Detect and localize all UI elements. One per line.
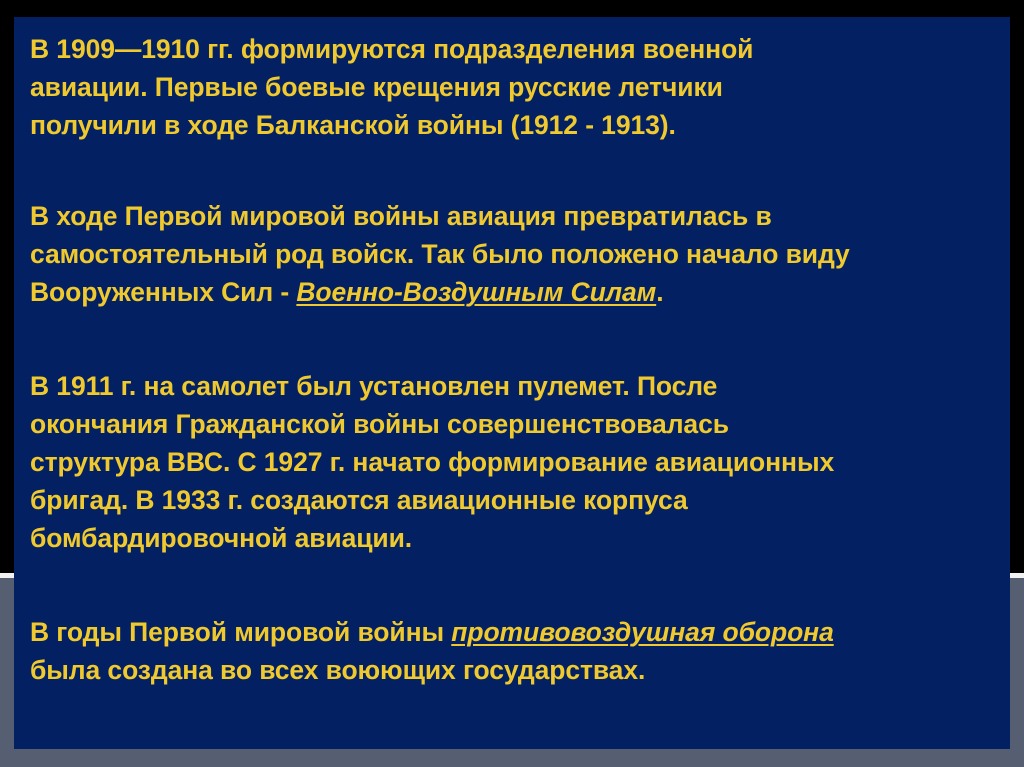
- emphasis-air-force: Военно-Воздушным Силам: [296, 277, 656, 307]
- paragraph-4-line-1-prefix: В годы Первой мировой войны: [30, 617, 451, 647]
- paragraph-1-line-3: получили в ходе Балканской войны (1912 -…: [30, 106, 1000, 144]
- paragraph-world-war-one: В ходе Первой мировой войны авиация прев…: [30, 197, 1000, 311]
- paragraph-1-line-1: В 1909—1910 гг. формируются подразделени…: [30, 30, 1000, 68]
- paragraph-aviation-units: В 1909—1910 гг. формируются подразделени…: [30, 30, 1000, 144]
- paragraph-1-line-2: авиации. Первые боевые крещения русские …: [30, 68, 1000, 106]
- paragraph-4-line-2: была создана во всех воюющих государства…: [30, 651, 1000, 689]
- paragraph-3-line-4: бригад. В 1933 г. создаются авиационные …: [30, 481, 1000, 519]
- paragraph-3-line-3: структура ВВС. С 1927 г. начато формиров…: [30, 443, 1000, 481]
- paragraph-3-line-2: окончания Гражданской войны совершенство…: [30, 405, 1000, 443]
- paragraph-machine-gun-brigades: В 1911 г. на самолет был установлен пуле…: [30, 367, 1000, 557]
- paragraph-2-line-2: самостоятельный род войск. Так было поло…: [30, 235, 1000, 273]
- paragraph-3-line-1: В 1911 г. на самолет был установлен пуле…: [30, 367, 1000, 405]
- slide-canvas: В 1909—1910 гг. формируются подразделени…: [14, 17, 1010, 749]
- paragraph-2-line-3-prefix: Вооруженных Сил -: [30, 277, 296, 307]
- emphasis-air-defense: противовоздушная оборона: [451, 617, 833, 647]
- paragraph-air-defense: В годы Первой мировой войны противовозду…: [30, 613, 1000, 689]
- paragraph-4-line-1: В годы Первой мировой войны противовозду…: [30, 613, 1000, 651]
- paragraph-2-line-1: В ходе Первой мировой войны авиация прев…: [30, 197, 1000, 235]
- paragraph-3-line-5: бомбардировочной авиации.: [30, 519, 1000, 557]
- presentation-page: В 1909—1910 гг. формируются подразделени…: [0, 0, 1024, 767]
- paragraph-2-line-3: Вооруженных Сил - Военно-Воздушным Силам…: [30, 273, 1000, 311]
- paragraph-2-line-3-suffix: .: [656, 277, 663, 307]
